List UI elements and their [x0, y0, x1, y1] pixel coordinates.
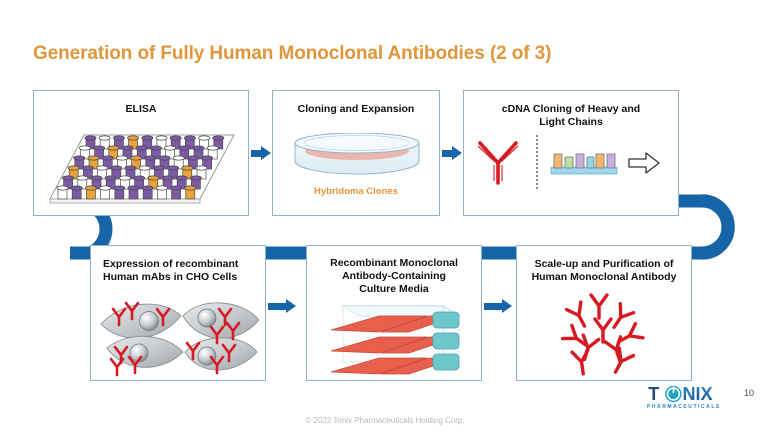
panel-elisa[interactable]: ELISA: [33, 90, 249, 216]
panel-cloning-title: Cloning and Expansion: [279, 103, 433, 116]
panel-scaleup-title-line2: Human Monoclonal Antibody: [523, 271, 685, 284]
panel-scaleup[interactable]: Scale-up and Purification of Human Monoc…: [516, 245, 692, 381]
panel-scaleup-title-line1: Scale-up and Purification of: [523, 258, 685, 271]
tonix-wordmark-icon: T NIX: [646, 384, 738, 404]
arrow-cloning-to-cdna: [442, 146, 462, 160]
svg-text:T: T: [648, 384, 659, 404]
panel-media-title-line3: Culture Media: [313, 283, 475, 296]
panel-cho-title-line2: Human mAbs in CHO Cells: [103, 271, 259, 284]
panel-elisa-title: ELISA: [40, 103, 242, 116]
panel-cdna-title-line2: Light Chains: [470, 116, 672, 129]
tonix-logo-tagline: PHARMACEUTICALS: [647, 404, 721, 410]
page-title: Generation of Fully Human Monoclonal Ant…: [33, 43, 551, 65]
panel-cdna-title-line1: cDNA Cloning of Heavy and: [470, 103, 672, 116]
page-number: 10: [744, 388, 754, 398]
panel-cho[interactable]: Expression of recombinant Human mAbs in …: [90, 245, 266, 381]
panel-cho-title-line1: Expression of recombinant: [103, 258, 259, 271]
slide-canvas: Generation of Fully Human Monoclonal Ant…: [0, 0, 770, 434]
arrow-media-to-scaleup: [484, 299, 512, 313]
antibody-y-icon: [470, 133, 526, 194]
culture-flask-stack-graphic: [317, 302, 473, 383]
panel-media[interactable]: Recombinant Monoclonal Antibody-Containi…: [306, 245, 482, 381]
cho-cells-graphic: [97, 290, 263, 383]
outline-arrow-icon: [628, 151, 660, 180]
panel-media-title-line2: Antibody-Containing: [313, 270, 475, 283]
arrow-elisa-to-cloning: [251, 146, 271, 160]
dotted-divider: [536, 135, 538, 189]
dna-construct-graphic: [550, 147, 628, 184]
copyright-notice: © 2022 Tonix Pharmaceuticals Holding Cor…: [0, 416, 770, 425]
panel-cloning[interactable]: Cloning and Expansion Hybridoma Clones: [272, 90, 440, 216]
elisa-microplate-graphic: [44, 129, 240, 212]
tonix-logo: T NIX PHARMACEUTICALS: [646, 384, 738, 414]
arrow-cho-to-media: [268, 299, 296, 313]
svg-text:NIX: NIX: [682, 384, 712, 404]
panel-cloning-subtitle: Hybridoma Clones: [273, 186, 439, 197]
antibody-cluster-graphic: [553, 292, 657, 381]
petri-dish-graphic: [291, 133, 423, 184]
panel-media-title-line1: Recombinant Monoclonal: [313, 257, 475, 270]
panel-cdna[interactable]: cDNA Cloning of Heavy and Light Chains: [463, 90, 679, 216]
